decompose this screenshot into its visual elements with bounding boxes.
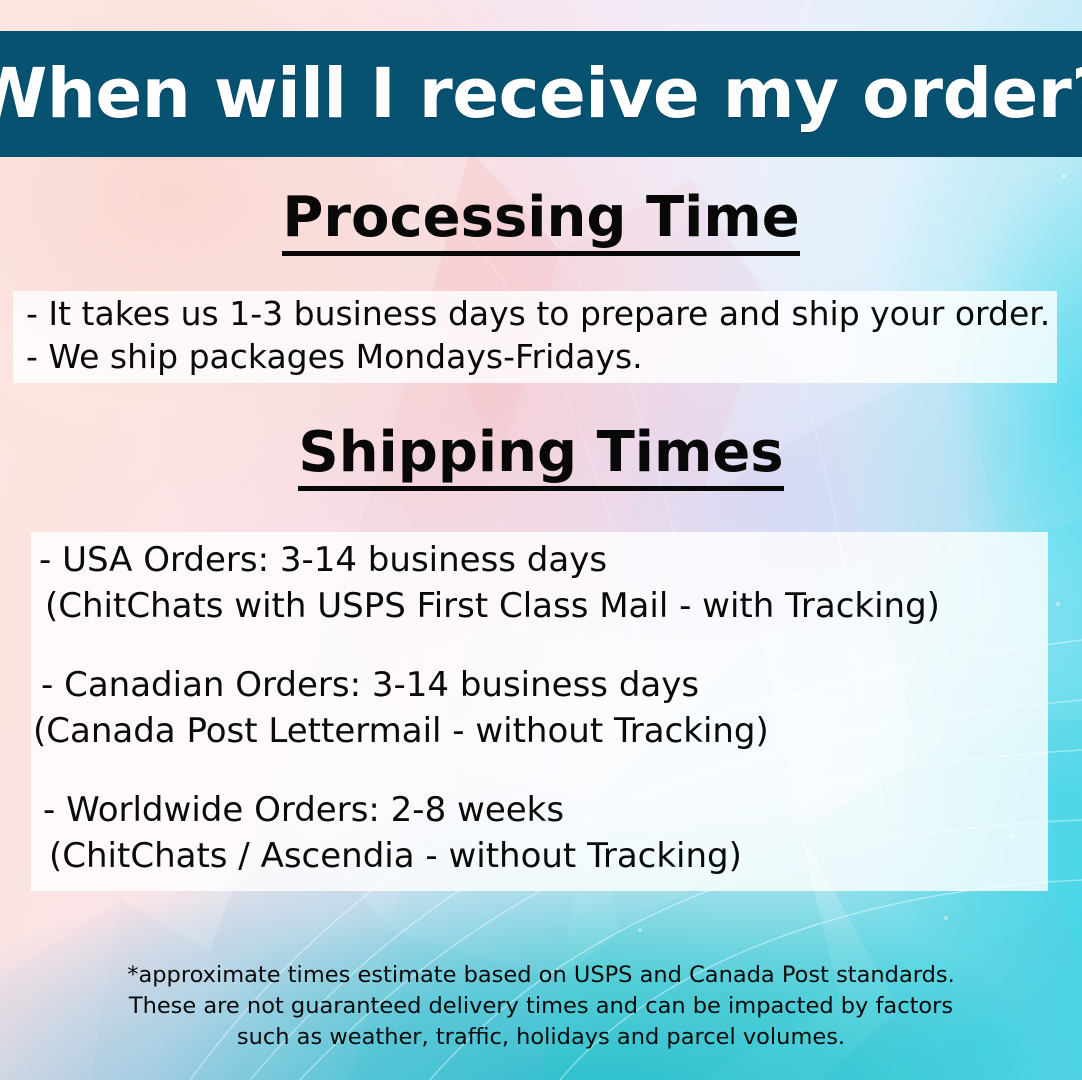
shipping-group-worldwide: - Worldwide Orders: 2-8 weeks (ChitChats… — [31, 788, 1048, 879]
shipping-usa-title: - USA Orders: 3-14 business days — [31, 538, 1048, 584]
shipping-canada-title: - Canadian Orders: 3-14 business days — [31, 663, 1048, 709]
shipping-canada-detail: (Canada Post Lettermail - without Tracki… — [31, 709, 1048, 755]
footnote-line-1: *approximate times estimate based on USP… — [0, 960, 1082, 991]
footnote-line-3: such as weather, traffic, holidays and p… — [0, 1022, 1082, 1053]
section-heading-shipping-times-label: Shipping Times — [298, 425, 783, 491]
processing-time-panel: - It takes us 1-3 business days to prepa… — [13, 291, 1057, 383]
section-heading-processing-time: Processing Time — [0, 190, 1082, 256]
shipping-group-canada: - Canadian Orders: 3-14 business days (C… — [31, 663, 1048, 754]
shipping-worldwide-detail: (ChitChats / Ascendia - without Tracking… — [31, 834, 1048, 880]
shipping-worldwide-title: - Worldwide Orders: 2-8 weeks — [31, 788, 1048, 834]
section-heading-shipping-times: Shipping Times — [0, 425, 1082, 491]
shipping-group-usa: - USA Orders: 3-14 business days (ChitCh… — [31, 538, 1048, 629]
footnote-line-2: These are not guaranteed delivery times … — [0, 991, 1082, 1022]
page-title: When will I receive my order? — [0, 60, 1082, 129]
processing-time-line-1: - It takes us 1-3 business days to prepa… — [13, 293, 1057, 336]
shipping-times-panel: - USA Orders: 3-14 business days (ChitCh… — [31, 532, 1048, 891]
processing-time-line-2: - We ship packages Mondays-Fridays. — [13, 336, 1057, 379]
section-heading-processing-time-label: Processing Time — [282, 190, 799, 256]
shipping-policy-infographic: When will I receive my order? Processing… — [0, 0, 1082, 1080]
footnote-disclaimer: *approximate times estimate based on USP… — [0, 960, 1082, 1053]
header-band: When will I receive my order? — [0, 31, 1082, 157]
shipping-usa-detail: (ChitChats with USPS First Class Mail - … — [31, 584, 1048, 630]
